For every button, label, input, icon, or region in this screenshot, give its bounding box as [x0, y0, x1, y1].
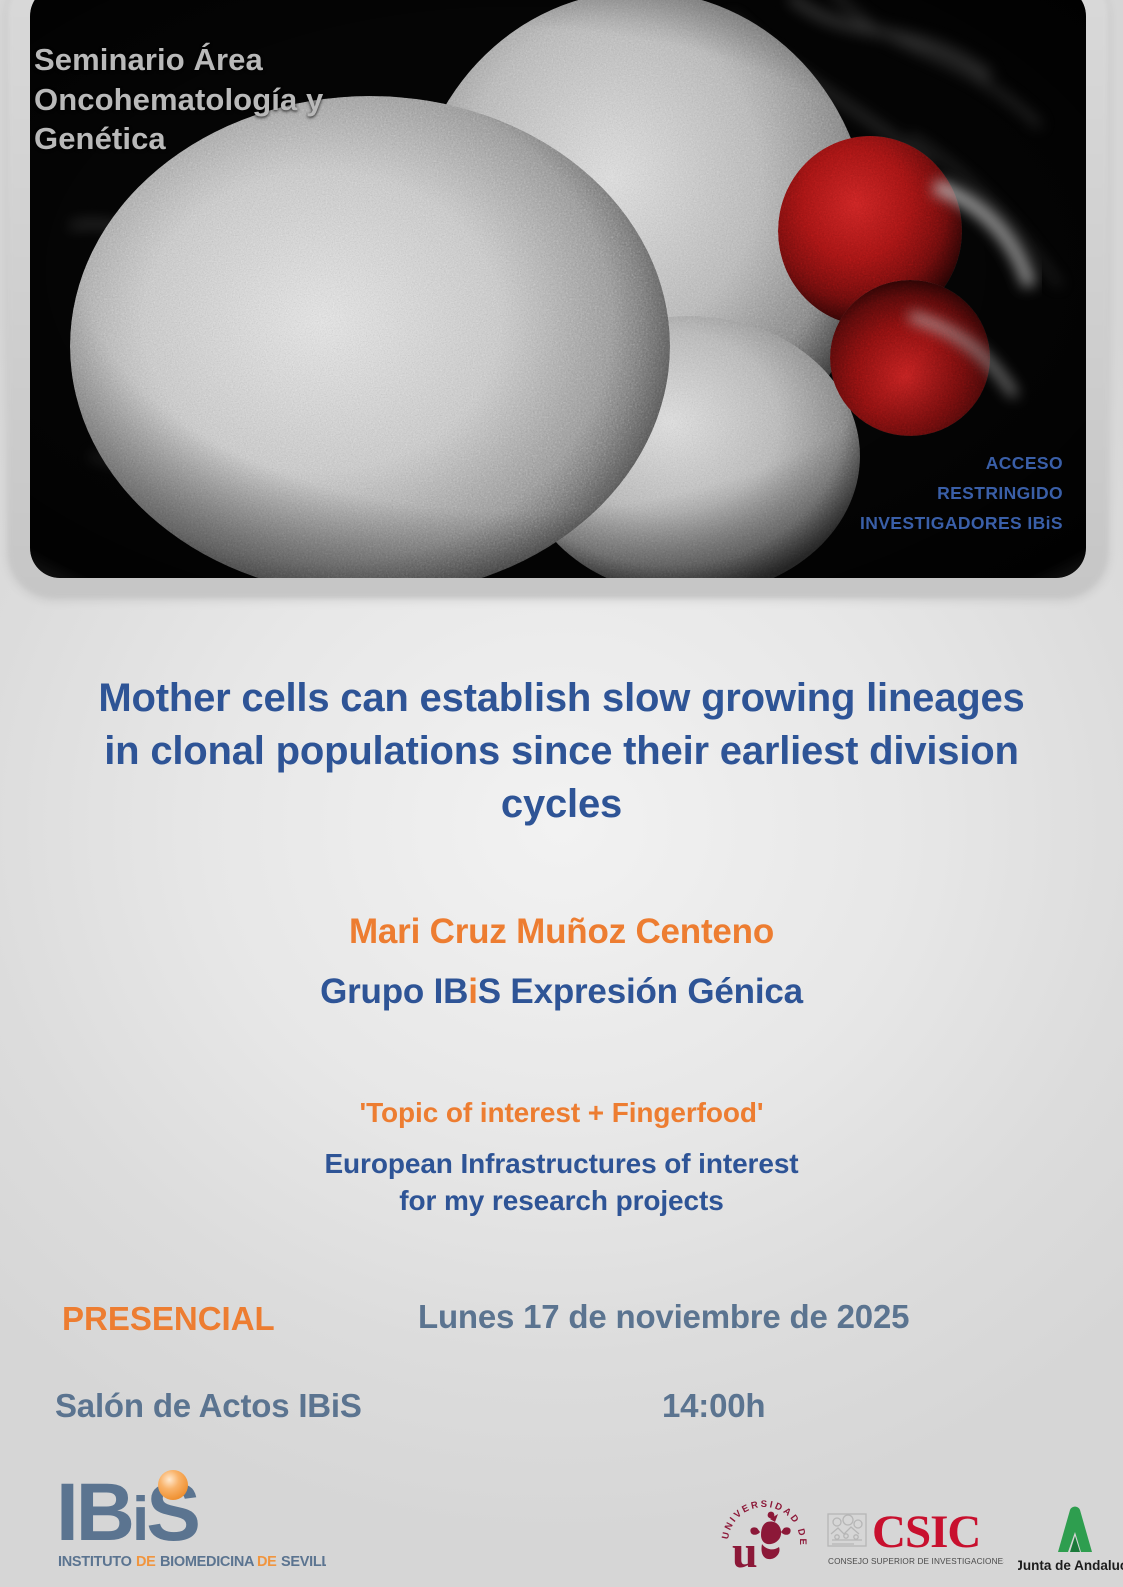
access-line-1: ACCESO [860, 448, 1063, 478]
seminar-title-line-3: Genética [34, 119, 464, 159]
topic-line-1: European Infrastructures of interest [80, 1145, 1043, 1182]
seminar-title-line-2: Oncohematología y [34, 80, 464, 120]
csic-logo: CSIC CONSEJO SUPERIOR DE INVESTIGACIONES… [824, 1500, 1004, 1574]
ibis-tagline-sevilla: SEVILLA [281, 1554, 326, 1570]
group-accent-letter: i [468, 972, 478, 1011]
csic-wordmark: CSIC [872, 1506, 980, 1558]
universidad-de-sevilla-logo: UNIVERSIDAD DE SEVILLA u [718, 1495, 810, 1579]
group-suffix: S Expresión Génica [478, 972, 803, 1011]
ibis-tagline-biomedicina: BIOMEDICINA [160, 1554, 255, 1570]
ibis-orange-dot [158, 1470, 188, 1500]
topic-quote: 'Topic of interest + Fingerfood' [80, 1097, 1043, 1129]
junta-wordmark: Junta de Andalucía [1018, 1558, 1123, 1573]
access-restriction-note: ACCESO RESTRINGIDO INVESTIGADORES IBiS [860, 448, 1063, 538]
partner-logos: UNIVERSIDAD DE SEVILLA u [718, 1494, 1123, 1580]
csic-subtitle: CONSEJO SUPERIOR DE INVESTIGACIONES CIEN… [828, 1556, 1004, 1566]
topic-line-2: for my research projects [80, 1182, 1043, 1219]
junta-arch-icon [1058, 1507, 1092, 1552]
group-prefix: Grupo IB [320, 972, 468, 1011]
event-venue: Salón de Actos IBiS [55, 1387, 362, 1425]
seminar-title-line-1: Seminario Área [34, 40, 464, 80]
ibis-tagline-instituto: INSTITUTO [58, 1554, 132, 1570]
topic-body: European Infrastructures of interest for… [80, 1145, 1043, 1219]
csic-emblem [828, 1514, 866, 1546]
event-time: 14:00h [662, 1387, 765, 1425]
speaker-group: Grupo IBiS Expresión Génica [80, 972, 1043, 1012]
ibis-tagline-de-1: DE [136, 1554, 156, 1570]
attendance-mode: PRESENCIAL [62, 1300, 275, 1338]
hero-section: Seminario Área Oncohematología y Genétic… [0, 0, 1123, 620]
talk-title: Mother cells can establish slow growing … [80, 672, 1043, 830]
junta-de-andalucia-logo: Junta de Andalucía [1018, 1498, 1123, 1576]
seminar-area-title: Seminario Área Oncohematología y Genétic… [34, 40, 464, 159]
ibis-tagline-de-2: DE [257, 1554, 277, 1570]
speaker-name: Mari Cruz Muñoz Centeno [80, 912, 1043, 952]
access-line-3: INVESTIGADORES IBiS [860, 508, 1063, 538]
event-date: Lunes 17 de noviembre de 2025 [418, 1298, 909, 1336]
seminar-poster: Seminario Área Oncohematología y Genétic… [0, 0, 1123, 1587]
access-line-2: RESTRINGIDO [860, 478, 1063, 508]
ibis-logo: IBiS INSTITUTO DE BIOMEDICINA DE SEVILLA [56, 1468, 326, 1578]
